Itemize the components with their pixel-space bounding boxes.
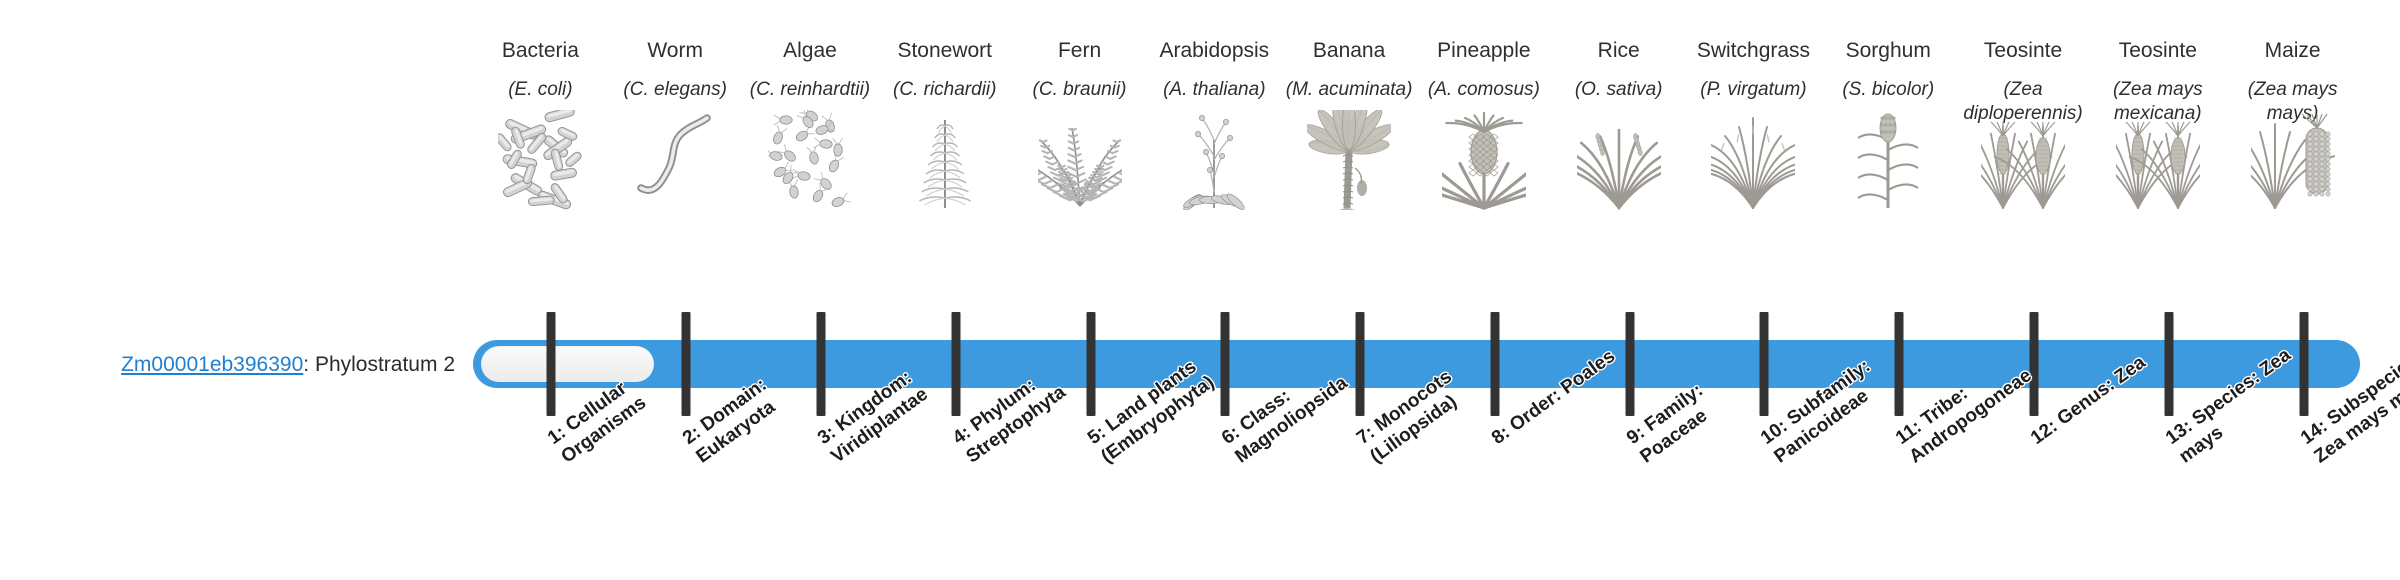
stratum-label-13: 13: Species: Zea mays — [2161, 343, 2309, 468]
stratum-label-group: 1: Cellular Organisms2: Domain: Eukaryot… — [473, 0, 2360, 580]
phylostratum-figure: Bacteria(E. coli)Worm(C. elegans)Algae(C… — [0, 0, 2400, 580]
gene-label: Zm00001eb396390: Phylostratum 2 — [0, 352, 455, 378]
stratum-label-10: 10: Subfamily: Panicoideae — [1757, 343, 1905, 468]
stratum-label-5: 5: Land plants (Embryophyta) — [1083, 343, 1231, 468]
stratum-label-11: 11: Tribe: Andropogoneae — [1892, 343, 2040, 468]
stratum-label-3: 3: Kingdom: Viridiplantae — [813, 343, 961, 468]
stratum-label-6: 6: Class: Magnoliopsida — [1218, 343, 1366, 468]
stratum-label-9: 9: Family: Poaceae — [1622, 343, 1770, 468]
stratum-label-12: 12: Genus: Zea — [2026, 343, 2161, 450]
gene-separator: : — [303, 353, 315, 376]
stratum-label-2: 2: Domain: Eukaryota — [679, 343, 827, 468]
stratum-label-14: 14: Subspecies: Zea mays mays — [2296, 343, 2400, 468]
stratum-label-4: 4: Phylum: Streptophyta — [948, 343, 1096, 468]
gene-id-link[interactable]: Zm00001eb396390 — [121, 353, 303, 376]
stratum-label-8: 8: Order: Poales — [1487, 343, 1622, 450]
stratum-label-1: 1: Cellular Organisms — [544, 343, 692, 468]
phylostratum-value-text: Phylostratum 2 — [315, 353, 455, 376]
stratum-label-7: 7: Monocots (Liliopsida) — [1352, 343, 1500, 468]
